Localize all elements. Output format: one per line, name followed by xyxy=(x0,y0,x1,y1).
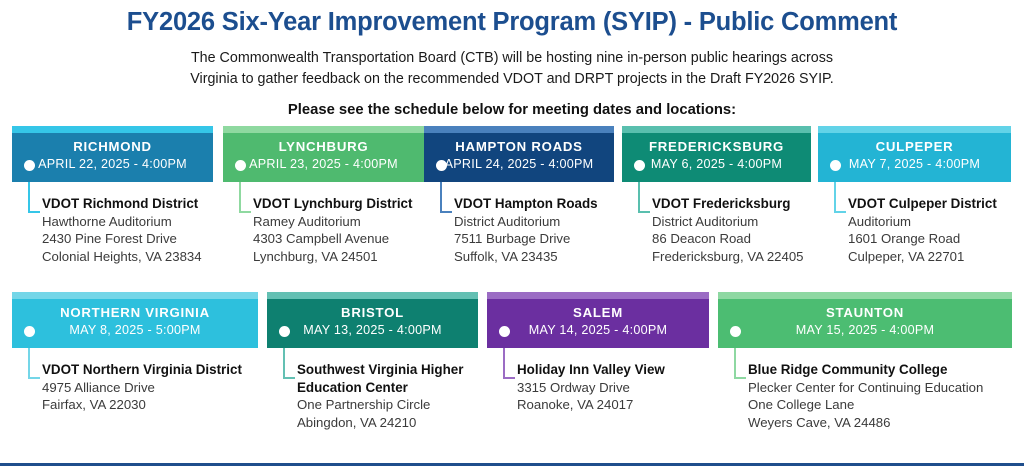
card-address-line: Suffolk, VA 23435 xyxy=(454,248,644,265)
marker-dot-icon xyxy=(235,160,246,171)
meeting-card: BRISTOLMAY 13, 2025 - 4:00PMSouthwest Vi… xyxy=(267,292,478,348)
card-address-line: 2430 Pine Forest Drive xyxy=(42,230,243,247)
card-location-details: Holiday Inn Valley View3315 Ordway Drive… xyxy=(517,361,739,414)
card-address-line: 7511 Burbage Drive xyxy=(454,230,644,247)
card-city-name: RICHMOND xyxy=(12,137,213,156)
card-date-time: APRIL 22, 2025 - 4:00PM xyxy=(12,156,213,173)
card-accent-bar xyxy=(818,126,1011,133)
card-venue-name: Southwest Virginia Higher Education Cent… xyxy=(297,361,474,396)
meeting-card: FREDERICKSBURGMAY 6, 2025 - 4:00PMVDOT F… xyxy=(622,126,811,182)
marker-dot-icon xyxy=(436,160,447,171)
card-accent-bar xyxy=(424,126,614,133)
meeting-card: RICHMONDAPRIL 22, 2025 - 4:00PMVDOT Rich… xyxy=(12,126,213,182)
meeting-card: STAUNTONMAY 15, 2025 - 4:00PMBlue Ridge … xyxy=(718,292,1012,348)
card-date-time: MAY 14, 2025 - 4:00PM xyxy=(487,322,709,339)
card-address-line: District Auditorium xyxy=(454,213,644,230)
card-location-details: VDOT Culpeper DistrictAuditorium1601 Ora… xyxy=(848,195,1024,265)
card-address-line: 86 Deacon Road xyxy=(652,230,841,247)
card-header: CULPEPERMAY 7, 2025 - 4:00PM xyxy=(818,133,1011,182)
marker-dot-icon xyxy=(730,326,741,337)
card-address-line: 3315 Ordway Drive xyxy=(517,379,739,396)
elbow-connector-line xyxy=(239,182,251,213)
elbow-connector-line xyxy=(638,182,650,213)
card-location-details: Blue Ridge Community CollegePlecker Cent… xyxy=(748,361,1024,431)
card-city-name: BRISTOL xyxy=(267,303,478,322)
card-location-details: VDOT Hampton RoadsDistrict Auditorium751… xyxy=(454,195,644,265)
card-venue-name: Holiday Inn Valley View xyxy=(517,361,739,379)
card-address-line: Plecker Center for Continuing Education xyxy=(748,379,1024,396)
card-address-line: Culpeper, VA 22701 xyxy=(848,248,1024,265)
intro-paragraph: The Commonwealth Transportation Board (C… xyxy=(127,48,897,89)
card-header: SALEMMAY 14, 2025 - 4:00PM xyxy=(487,299,709,348)
card-date-time: MAY 7, 2025 - 4:00PM xyxy=(818,156,1011,173)
card-address-line: Fredericksburg, VA 22405 xyxy=(652,248,841,265)
card-city-name: CULPEPER xyxy=(818,137,1011,156)
card-accent-bar xyxy=(223,126,424,133)
card-address-line: Auditorium xyxy=(848,213,1024,230)
card-date-time: MAY 8, 2025 - 5:00PM xyxy=(12,322,258,339)
card-venue-name: VDOT Culpeper District xyxy=(848,195,1024,213)
meeting-card: SALEMMAY 14, 2025 - 4:00PMHoliday Inn Va… xyxy=(487,292,709,348)
card-address-line: Weyers Cave, VA 24486 xyxy=(748,414,1024,431)
elbow-connector-line xyxy=(28,182,40,213)
card-location-details: Southwest Virginia Higher Education Cent… xyxy=(297,361,508,431)
card-city-name: LYNCHBURG xyxy=(223,137,424,156)
elbow-connector-line xyxy=(834,182,846,213)
meeting-card: NORTHERN VIRGINIAMAY 8, 2025 - 5:00PMVDO… xyxy=(12,292,258,348)
card-venue-name: Blue Ridge Community College xyxy=(748,361,1024,379)
meeting-card: LYNCHBURGAPRIL 23, 2025 - 4:00PMVDOT Lyn… xyxy=(223,126,424,182)
card-address-line: Hawthorne Auditorium xyxy=(42,213,243,230)
marker-dot-icon xyxy=(24,160,35,171)
card-city-name: HAMPTON ROADS xyxy=(424,137,614,156)
elbow-connector-line xyxy=(283,348,295,379)
card-address-line: Colonial Heights, VA 23834 xyxy=(42,248,243,265)
meeting-card: HAMPTON ROADSAPRIL 24, 2025 - 4:00PMVDOT… xyxy=(424,126,614,182)
card-date-time: APRIL 23, 2025 - 4:00PM xyxy=(223,156,424,173)
card-address-line: Abingdon, VA 24210 xyxy=(297,414,508,431)
marker-dot-icon xyxy=(279,326,290,337)
card-address-line: 4303 Campbell Avenue xyxy=(253,230,454,247)
elbow-connector-line xyxy=(503,348,515,379)
card-city-name: NORTHERN VIRGINIA xyxy=(12,303,258,322)
marker-dot-icon xyxy=(24,326,35,337)
card-header: HAMPTON ROADSAPRIL 24, 2025 - 4:00PM xyxy=(424,133,614,182)
card-header: LYNCHBURGAPRIL 23, 2025 - 4:00PM xyxy=(223,133,424,182)
elbow-connector-line xyxy=(28,348,40,379)
card-header: RICHMONDAPRIL 22, 2025 - 4:00PM xyxy=(12,133,213,182)
card-accent-bar xyxy=(487,292,709,299)
card-city-name: SALEM xyxy=(487,303,709,322)
page-header: FY2026 Six-Year Improvement Program (SYI… xyxy=(0,0,1024,118)
card-accent-bar xyxy=(622,126,811,133)
card-address-line: Roanoke, VA 24017 xyxy=(517,396,739,413)
elbow-connector-line xyxy=(440,182,452,213)
card-address-line: Ramey Auditorium xyxy=(253,213,454,230)
card-accent-bar xyxy=(12,126,213,133)
card-venue-name: VDOT Lynchburg District xyxy=(253,195,454,213)
marker-dot-icon xyxy=(830,160,841,171)
card-address-line: 4975 Alliance Drive xyxy=(42,379,288,396)
card-accent-bar xyxy=(718,292,1012,299)
marker-dot-icon xyxy=(499,326,510,337)
intro-line-1: The Commonwealth Transportation Board (C… xyxy=(127,48,897,68)
card-address-line: One College Lane xyxy=(748,396,1024,413)
card-venue-name: VDOT Fredericksburg xyxy=(652,195,841,213)
card-date-time: APRIL 24, 2025 - 4:00PM xyxy=(424,156,614,173)
card-location-details: VDOT Lynchburg DistrictRamey Auditorium4… xyxy=(253,195,454,265)
card-accent-bar xyxy=(267,292,478,299)
card-city-name: FREDERICKSBURG xyxy=(622,137,811,156)
card-address-line: Fairfax, VA 22030 xyxy=(42,396,288,413)
card-accent-bar xyxy=(12,292,258,299)
card-venue-name: VDOT Hampton Roads xyxy=(454,195,644,213)
card-venue-name: VDOT Northern Virginia District xyxy=(42,361,288,379)
card-venue-name: VDOT Richmond District xyxy=(42,195,243,213)
card-header: FREDERICKSBURGMAY 6, 2025 - 4:00PM xyxy=(622,133,811,182)
card-header: NORTHERN VIRGINIAMAY 8, 2025 - 5:00PM xyxy=(12,299,258,348)
intro-line-2: Virginia to gather feedback on the recom… xyxy=(127,69,897,89)
card-location-details: VDOT FredericksburgDistrict Auditorium86… xyxy=(652,195,841,265)
card-date-time: MAY 13, 2025 - 4:00PM xyxy=(267,322,478,339)
card-date-time: MAY 6, 2025 - 4:00PM xyxy=(622,156,811,173)
card-address-line: Lynchburg, VA 24501 xyxy=(253,248,454,265)
card-address-line: 1601 Orange Road xyxy=(848,230,1024,247)
card-header: BRISTOLMAY 13, 2025 - 4:00PM xyxy=(267,299,478,348)
card-city-name: STAUNTON xyxy=(718,303,1012,322)
card-address-line: District Auditorium xyxy=(652,213,841,230)
card-location-details: VDOT Richmond DistrictHawthorne Auditori… xyxy=(42,195,243,265)
card-location-details: VDOT Northern Virginia District4975 Alli… xyxy=(42,361,288,414)
marker-dot-icon xyxy=(634,160,645,171)
meeting-card: CULPEPERMAY 7, 2025 - 4:00PMVDOT Culpepe… xyxy=(818,126,1011,182)
card-date-time: MAY 15, 2025 - 4:00PM xyxy=(718,322,1012,339)
page-title: FY2026 Six-Year Improvement Program (SYI… xyxy=(0,8,1024,37)
schedule-instruction: Please see the schedule below for meetin… xyxy=(0,102,1024,118)
card-address-line: One Partnership Circle xyxy=(297,396,508,413)
card-header: STAUNTONMAY 15, 2025 - 4:00PM xyxy=(718,299,1012,348)
elbow-connector-line xyxy=(734,348,746,379)
